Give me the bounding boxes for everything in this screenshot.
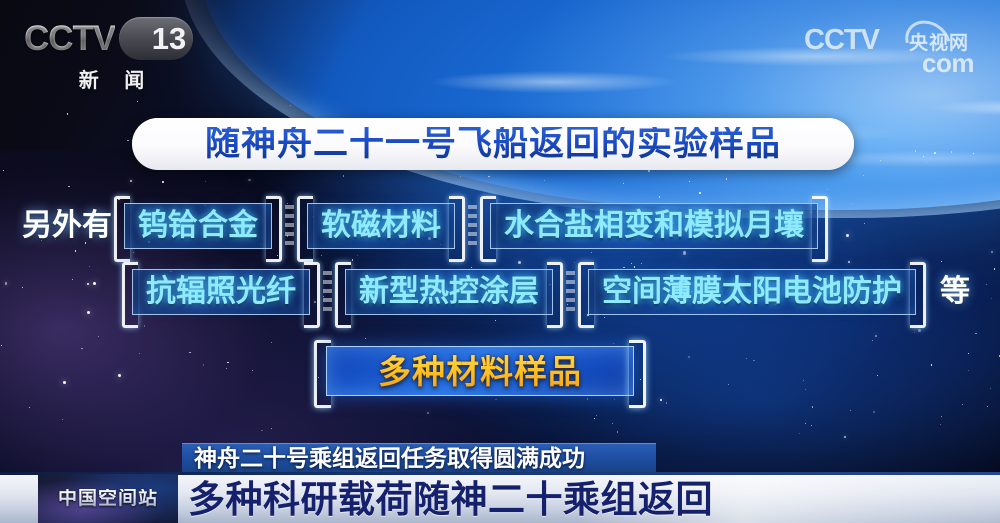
tag-row1-item-2: 软磁材料 xyxy=(303,200,459,252)
channel-logo-row: CCTV 13 xyxy=(24,16,199,60)
program-badge: 中国空间站 xyxy=(38,474,178,523)
tag-label: 空间薄膜太阳电池防护 xyxy=(602,277,902,307)
tags-trailing-text: 等 xyxy=(940,277,970,307)
main-title-text: 随神舟二十一号飞船返回的实验样品 xyxy=(205,127,781,162)
tag-label: 软磁材料 xyxy=(321,211,441,241)
channel-number-badge: 13 xyxy=(119,17,193,60)
lower-third-subtitle-bar: 神舟二十号乘组返回任务取得圆满成功 xyxy=(182,443,656,475)
channel-logo: CCTV 13 新 闻 xyxy=(24,16,199,86)
cctv-wordmark: CCTV xyxy=(24,21,115,56)
highlight-box: 多种材料样品 xyxy=(322,343,638,399)
tags-lead-text: 另外有 xyxy=(22,211,112,241)
lower-third-subtitle-text: 神舟二十号乘组返回任务取得圆满成功 xyxy=(194,448,585,471)
tag-row2-item-2: 新型热控涂层 xyxy=(341,266,557,318)
cctv-com-watermark: CCTV 央视网 com xyxy=(804,26,976,76)
highlight-panel: 多种材料样品 xyxy=(326,346,634,396)
tag-divider-ticks xyxy=(468,205,477,247)
broadcast-frame: CCTV 13 新 闻 CCTV 央视网 com 随神舟二十一号飞船返回的实验样… xyxy=(0,0,1000,523)
tag-label: 钨铪合金 xyxy=(138,211,258,241)
tag-label: 抗辐照光纤 xyxy=(146,277,296,307)
main-title-banner: 随神舟二十一号飞船返回的实验样品 xyxy=(132,118,854,170)
channel-subtitle: 新 闻 xyxy=(24,64,199,93)
tag-row1-item-1: 钨铪合金 xyxy=(120,200,276,252)
tag-label: 新型热控涂层 xyxy=(359,277,539,307)
watermark-com-text: com xyxy=(922,48,974,79)
tag-divider-ticks xyxy=(285,205,294,247)
tag-row-2: 抗辐照光纤 新型热控涂层 空间薄膜太阳电池防护 等 xyxy=(120,266,970,318)
highlight-label: 多种材料样品 xyxy=(378,355,582,388)
lower-third-headline: 多种科研载荷随神二十乘组返回 xyxy=(188,475,713,523)
tag-label: 水合盐相变和模拟月壤 xyxy=(504,211,804,241)
program-badge-text: 中国空间站 xyxy=(58,489,158,508)
tag-divider-ticks xyxy=(566,271,575,313)
tag-divider-ticks xyxy=(323,271,332,313)
tag-row1-item-3: 水合盐相变和模拟月壤 xyxy=(486,200,822,252)
tag-row2-item-1: 抗辐照光纤 xyxy=(128,266,314,318)
tag-row2-item-3: 空间薄膜太阳电池防护 xyxy=(584,266,920,318)
lower-third-headline-text: 多种科研载荷随神二十乘组返回 xyxy=(188,481,713,518)
channel-number: 13 xyxy=(152,23,186,54)
tag-row-1: 另外有 钨铪合金 软磁材料 水合盐相变和模拟月壤 xyxy=(22,200,830,252)
watermark-cctv-text: CCTV xyxy=(804,26,879,55)
